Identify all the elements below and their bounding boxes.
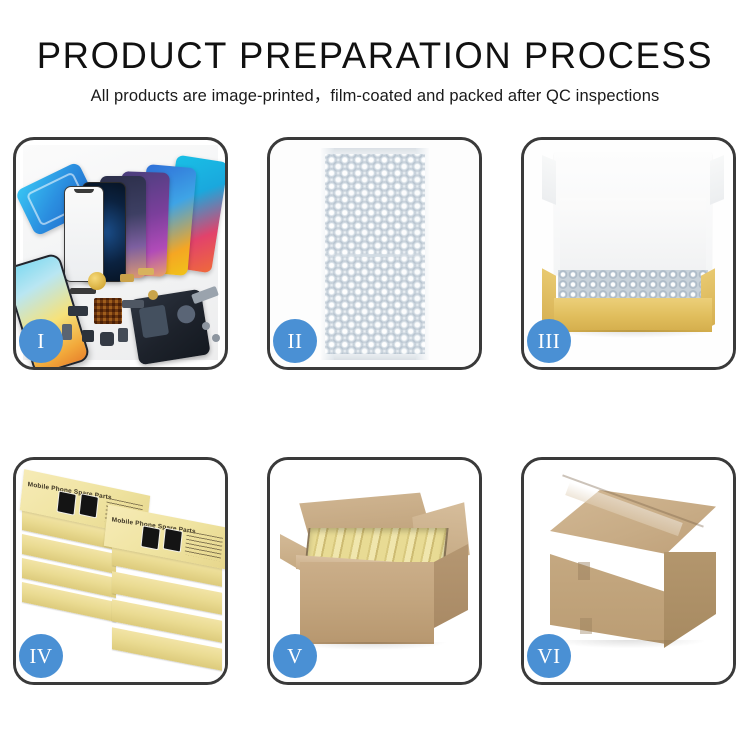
spare-part-5: [94, 298, 122, 324]
sealed-carton-side: [664, 552, 716, 648]
spare-part-11: [122, 300, 144, 308]
spare-part-4: [138, 268, 154, 275]
box-spec-lines-2: [185, 531, 224, 562]
header: PRODUCT PREPARATION PROCESS All products…: [0, 34, 750, 107]
open-carton: [286, 498, 468, 650]
box-artwork-screen-1b: [79, 493, 99, 518]
step-panel-1[interactable]: I: [13, 137, 228, 370]
step-badge-2: II: [273, 319, 317, 363]
step-badge-1: I: [19, 319, 63, 363]
step-panel-5[interactable]: V: [267, 457, 482, 685]
spare-part-15: [212, 334, 220, 342]
step-badge-5: V: [273, 634, 317, 678]
pouch-seam: [327, 254, 423, 257]
spare-part-12: [148, 290, 158, 300]
process-steps-grid: I II: [13, 137, 737, 685]
mailer-shadow: [550, 330, 716, 338]
step-panel-6[interactable]: VI: [521, 457, 736, 685]
infographic-page: PRODUCT PREPARATION PROCESS All products…: [0, 0, 750, 750]
mailer-bubble-contents: [558, 270, 708, 300]
sealed-carton-shadow: [554, 640, 704, 648]
spare-part-10: [118, 328, 128, 342]
page-title: PRODUCT PREPARATION PROCESS: [6, 34, 745, 78]
mailer-foam-sheet: [560, 198, 706, 270]
spare-part-9: [100, 332, 114, 346]
step-panel-4[interactable]: Mobile Phone Spare Parts Mobile Phone Sp…: [13, 457, 228, 685]
sealed-carton-front: [550, 538, 666, 644]
step-badge-4: IV: [19, 634, 63, 678]
carton-handle-notch-top: [578, 562, 590, 580]
bubble-wrap-pouch: [321, 148, 429, 360]
spare-part-14: [202, 322, 210, 330]
screen-glass-graphic: [64, 186, 104, 282]
step-badge-3: III: [527, 319, 571, 363]
step-badge-6: VI: [527, 634, 571, 678]
spare-part-8: [82, 330, 94, 342]
spare-part-3: [120, 274, 134, 282]
box-artwork-screen-2a: [140, 525, 160, 550]
box-artwork-screen-1a: [56, 490, 76, 515]
carton-front-panel: [300, 562, 434, 644]
page-subtitle: All products are image-printed，film-coat…: [0, 85, 750, 107]
mailer-front-panel: [554, 298, 712, 332]
step-panel-2[interactable]: II: [267, 137, 482, 370]
carton-shadow: [296, 642, 446, 650]
spare-part-6: [68, 306, 88, 316]
step-panel-3[interactable]: III: [521, 137, 736, 370]
spare-part-2: [88, 272, 106, 290]
box-artwork-screen-2b: [163, 528, 183, 553]
sealed-carton: [550, 490, 716, 656]
carton-handle-notch-bottom: [580, 618, 592, 634]
spare-part-7: [62, 324, 72, 340]
